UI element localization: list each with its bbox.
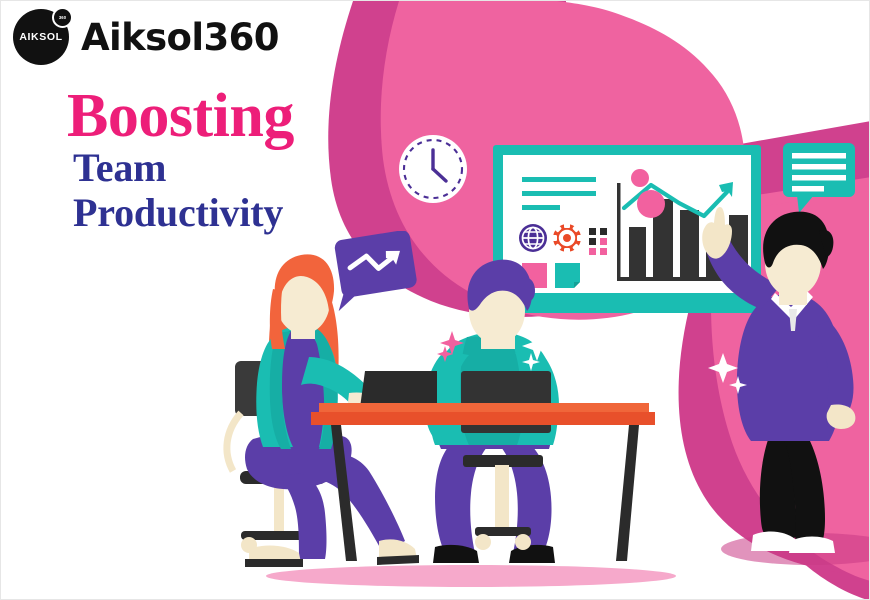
stool-pole <box>495 465 509 531</box>
brand-mark: AIKSOL 360 <box>13 9 69 65</box>
brand-name: Aiksol360 <box>81 19 279 56</box>
headline-block: Boosting Team Productivity <box>67 87 294 236</box>
woman-shoe-near-sole <box>245 559 303 567</box>
person-presenter <box>702 207 855 553</box>
headline-line-3: Productivity <box>67 191 294 236</box>
woman-shin <box>279 473 327 559</box>
desk-leg-right <box>616 425 639 561</box>
desk-top <box>319 403 649 412</box>
sparkle-white-3 <box>708 353 738 383</box>
illustration-canvas: AIKSOL 360 Aiksol360 Boosting Team Produ… <box>0 0 870 600</box>
stool-wheel-left <box>475 534 491 550</box>
headline-line-2: Team <box>67 145 294 191</box>
brand-logo-text: AIKSOL <box>19 31 62 43</box>
desk-edge <box>311 412 655 425</box>
headline-line-1: Boosting <box>67 87 294 145</box>
brand-badge-icon: 360 <box>52 7 73 28</box>
stool-wheel-right <box>515 534 531 550</box>
presenter-hand-hip <box>827 404 856 429</box>
woman-shirt <box>282 331 325 447</box>
brand-lockup: AIKSOL 360 Aiksol360 <box>13 9 279 65</box>
brand-badge-text: 360 <box>59 15 66 20</box>
chair-frame-arc <box>227 413 241 471</box>
